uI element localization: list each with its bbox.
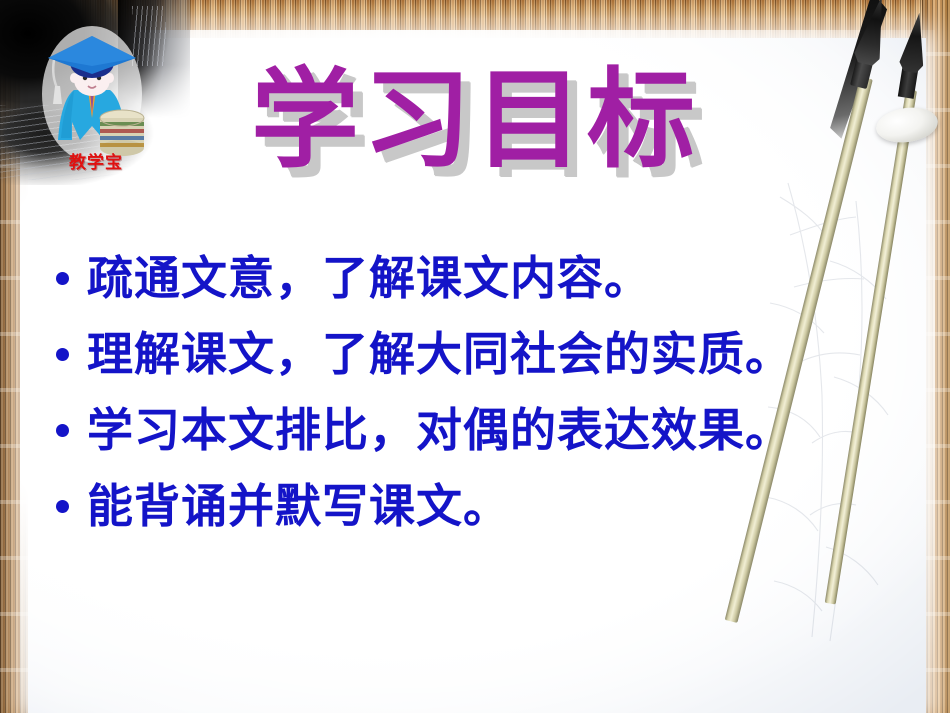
list-item-label: 理解课文，了解大同社会的实质。 <box>87 320 792 388</box>
bullet-dot-icon <box>56 348 69 361</box>
list-item-label: 学习本文排比，对偶的表达效果。 <box>87 396 792 464</box>
list-item: 疏通文意，了解课文内容。 <box>56 244 896 312</box>
list-item-label: 能背诵并默写课文。 <box>87 472 510 540</box>
slide-title-container: 学习目标 <box>0 62 950 179</box>
bullet-dot-icon <box>56 424 69 437</box>
list-item-label: 疏通文意，了解课文内容。 <box>87 244 651 312</box>
list-item: 能背诵并默写课文。 <box>56 472 896 540</box>
bullet-dot-icon <box>56 272 69 285</box>
list-item: 学习本文排比，对偶的表达效果。 <box>56 396 896 464</box>
presentation-slide: 教学宝 学习目标 疏通文意，了解课文内容。 理解课文，了解大同社会的实质。 学习… <box>0 0 950 713</box>
list-item: 理解课文，了解大同社会的实质。 <box>56 320 896 388</box>
bullet-dot-icon <box>56 500 69 513</box>
objectives-list: 疏通文意，了解课文内容。 理解课文，了解大同社会的实质。 学习本文排比，对偶的表… <box>56 244 896 548</box>
slide-title: 学习目标 <box>251 62 699 179</box>
